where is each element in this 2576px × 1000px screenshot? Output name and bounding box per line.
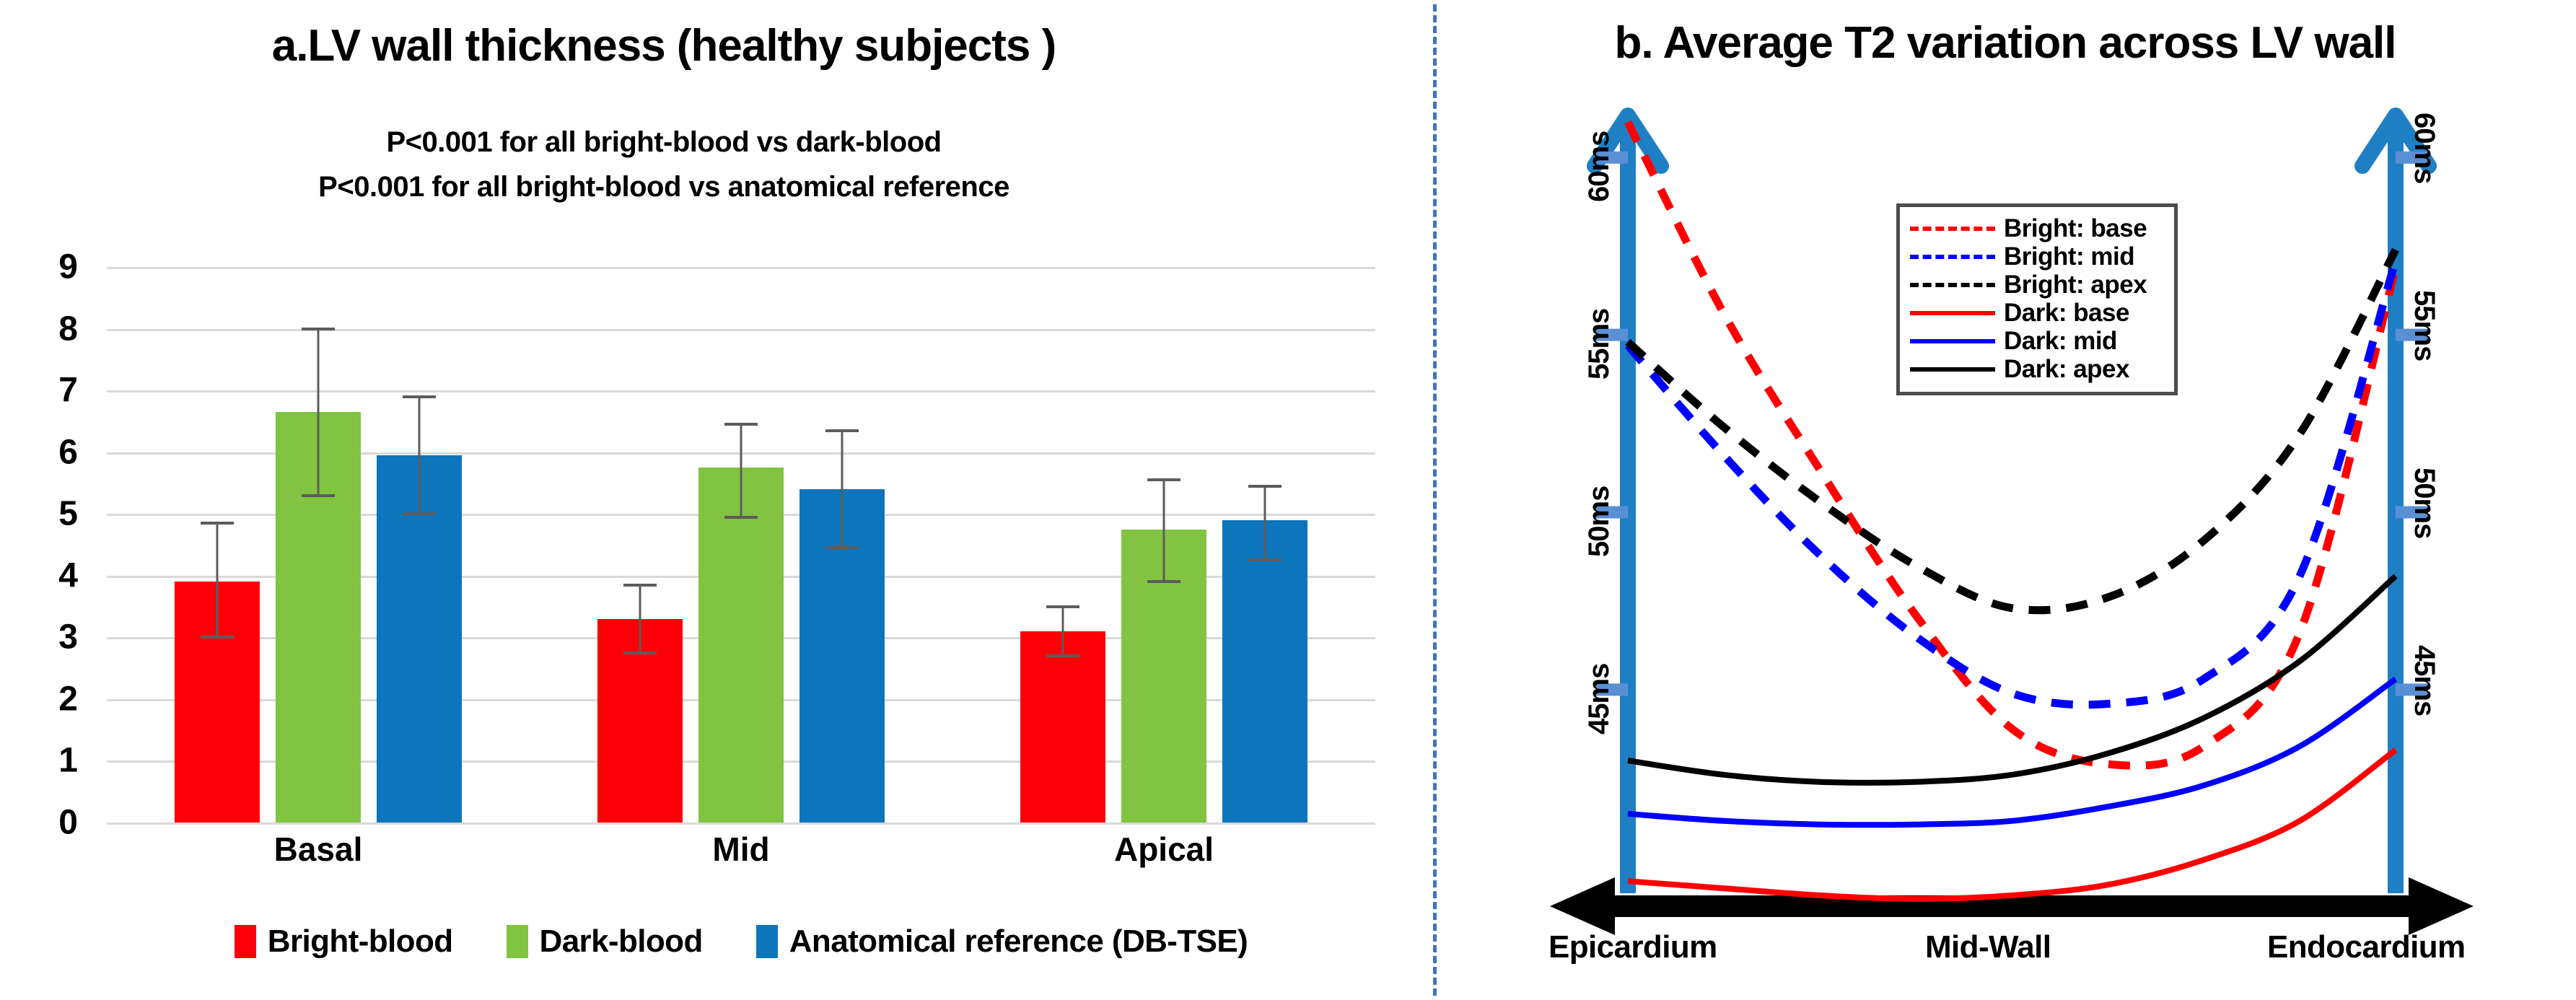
legend-item[interactable]: Dark: base bbox=[1910, 299, 2164, 327]
x-axis-label-epicardium: Epicardium bbox=[1548, 929, 1717, 965]
y-axis-tick-label: 8 bbox=[13, 309, 78, 348]
bar-anatomical-basal[interactable] bbox=[377, 267, 462, 823]
x-axis-label-mid: Mid bbox=[530, 830, 952, 880]
error-bar bbox=[1264, 486, 1266, 561]
y-axis-tick-label-left: 45ms bbox=[1583, 664, 1616, 734]
y-axis-tick-label-left: 55ms bbox=[1583, 309, 1616, 380]
panel-a-subtitle-2: P<0.001 for all bright-blood vs anatomic… bbox=[0, 171, 1328, 203]
y-axis-tick-label: 6 bbox=[13, 432, 78, 472]
error-cap-top bbox=[623, 584, 657, 587]
legend-item-label: Bright-blood bbox=[268, 924, 453, 960]
error-cap-bottom bbox=[302, 494, 335, 497]
error-bar bbox=[419, 397, 421, 514]
y-axis-tick-label: 1 bbox=[13, 741, 78, 781]
panel-b-line-chart: b. Average T2 variation across LV wall 6… bbox=[1434, 0, 2576, 1000]
y-axis-tick-label-right: 50ms bbox=[2408, 468, 2440, 538]
error-cap-bottom bbox=[1147, 580, 1180, 583]
legend-item[interactable]: Bright: apex bbox=[1910, 271, 2164, 299]
legend-item-label: Dark: apex bbox=[2004, 355, 2129, 384]
error-bar bbox=[639, 585, 641, 653]
legend-item-label: Bright: apex bbox=[2004, 271, 2147, 299]
panel-a-legend: Bright-bloodDark-bloodAnatomical referen… bbox=[107, 916, 1375, 967]
legend-swatch-icon bbox=[507, 925, 528, 958]
legend-item[interactable]: Bright-blood bbox=[235, 924, 453, 960]
legend-line-icon bbox=[1910, 339, 1995, 343]
error-cap-top bbox=[302, 328, 335, 330]
x-axis-label-basal: Basal bbox=[107, 830, 530, 880]
legend-item-label: Dark: mid bbox=[2004, 327, 2117, 356]
error-cap-bottom bbox=[825, 546, 859, 549]
error-bar bbox=[216, 523, 219, 637]
legend-swatch-icon bbox=[756, 925, 778, 958]
bar-rect bbox=[698, 468, 784, 823]
legend-item-label: Dark: base bbox=[2004, 299, 2129, 328]
error-bar bbox=[317, 329, 320, 496]
legend-item-label: Bright: base bbox=[2004, 214, 2147, 243]
bar-group-apical bbox=[952, 267, 1375, 823]
legend-item-label: Bright: mid bbox=[2004, 242, 2134, 271]
legend-line-icon bbox=[1910, 227, 1995, 231]
gridline bbox=[107, 823, 1375, 825]
error-bar bbox=[841, 431, 844, 548]
panel-a-title: a.LV wall thickness (healthy subjects ) bbox=[0, 20, 1328, 71]
bar-bright-mid[interactable] bbox=[597, 267, 683, 823]
panel-a-x-axis-labels: BasalMidApical bbox=[107, 830, 1375, 880]
bar-bright-basal[interactable] bbox=[175, 267, 260, 823]
error-cap-bottom bbox=[201, 636, 234, 639]
legend-item[interactable]: Dark: apex bbox=[1910, 355, 2164, 383]
error-cap-top bbox=[403, 395, 436, 398]
error-cap-bottom bbox=[1046, 654, 1079, 657]
bar-group-mid bbox=[530, 267, 952, 823]
error-bar bbox=[740, 424, 742, 517]
panel-b-legend: Bright: baseBright: midBright: apexDark:… bbox=[1896, 203, 2178, 395]
error-cap-bottom bbox=[403, 512, 436, 515]
panel-b-title: b. Average T2 variation across LV wall bbox=[1434, 17, 2576, 69]
error-cap-bottom bbox=[623, 652, 657, 654]
y-axis-tick-label: 3 bbox=[13, 618, 78, 657]
legend-line-icon bbox=[1910, 367, 1995, 372]
y-axis-tick-label-left: 50ms bbox=[1583, 486, 1616, 557]
y-axis-tick-label-left: 60ms bbox=[1583, 131, 1616, 202]
figure-root: a.LV wall thickness (healthy subjects ) … bbox=[0, 0, 2576, 1000]
y-axis-tick-label-right: 55ms bbox=[2408, 290, 2440, 361]
panel-a-bar-chart: a.LV wall thickness (healthy subjects ) … bbox=[0, 0, 1434, 1000]
legend-line-icon bbox=[1910, 283, 1995, 287]
error-bar bbox=[1163, 480, 1165, 582]
bar-group-basal bbox=[107, 267, 530, 823]
legend-item[interactable]: Anatomical reference (DB-TSE) bbox=[756, 924, 1248, 960]
legend-item[interactable]: Bright: base bbox=[1910, 214, 2164, 242]
y-axis-tick-label: 9 bbox=[13, 247, 78, 287]
panel-a-plot-area bbox=[107, 267, 1375, 823]
panel-a-y-axis: 0123456789 bbox=[0, 267, 94, 823]
legend-item-label: Dark-blood bbox=[540, 924, 703, 960]
x-axis-label-apical: Apical bbox=[952, 830, 1375, 880]
error-cap-top bbox=[1248, 485, 1282, 488]
legend-item[interactable]: Bright: mid bbox=[1910, 242, 2164, 271]
error-cap-top bbox=[1147, 478, 1180, 481]
error-cap-top bbox=[724, 423, 758, 426]
legend-line-icon bbox=[1910, 311, 1995, 315]
y-axis-tick-label-right: 60ms bbox=[2408, 113, 2440, 183]
x-axis-label-mid-wall: Mid-Wall bbox=[1925, 929, 2051, 965]
bar-anatomical-mid[interactable] bbox=[799, 267, 885, 823]
panel-a-subtitle-1: P<0.001 for all bright-blood vs dark-blo… bbox=[0, 126, 1328, 159]
legend-swatch-icon bbox=[235, 925, 256, 958]
panel-a-bar-groups bbox=[107, 267, 1375, 823]
y-axis-tick-label: 0 bbox=[13, 803, 78, 843]
bar-rect bbox=[1222, 520, 1307, 823]
y-axis-tick-label: 7 bbox=[13, 371, 78, 411]
bar-anatomical-apical[interactable] bbox=[1222, 267, 1307, 823]
y-axis-tick-label: 5 bbox=[13, 494, 78, 534]
bar-bright-apical[interactable] bbox=[1020, 267, 1105, 823]
y-axis-tick-label: 4 bbox=[13, 556, 78, 595]
legend-item[interactable]: Dark: mid bbox=[1910, 327, 2164, 355]
error-cap-bottom bbox=[1248, 558, 1282, 561]
legend-item-label: Anatomical reference (DB-TSE) bbox=[789, 924, 1248, 960]
error-cap-top bbox=[201, 522, 234, 525]
panel-b-x-axis-labels: EpicardiumMid-WallEndocardium bbox=[1434, 929, 2576, 973]
legend-item[interactable]: Dark-blood bbox=[507, 924, 703, 960]
error-cap-top bbox=[1046, 605, 1079, 608]
y-axis-tick-label: 2 bbox=[13, 679, 78, 719]
bar-dark-basal[interactable] bbox=[276, 267, 361, 823]
bar-dark-mid[interactable] bbox=[698, 267, 784, 823]
error-cap-bottom bbox=[724, 516, 758, 519]
legend-line-icon bbox=[1910, 255, 1995, 259]
y-axis-tick-label-right: 45ms bbox=[2408, 645, 2440, 716]
error-cap-top bbox=[825, 429, 859, 432]
error-bar bbox=[1062, 607, 1064, 656]
bar-dark-apical[interactable] bbox=[1121, 267, 1206, 823]
x-axis-label-endocardium: Endocardium bbox=[2267, 929, 2466, 965]
curve-dark-mid bbox=[1628, 679, 2396, 825]
bar-rect bbox=[1020, 631, 1105, 823]
